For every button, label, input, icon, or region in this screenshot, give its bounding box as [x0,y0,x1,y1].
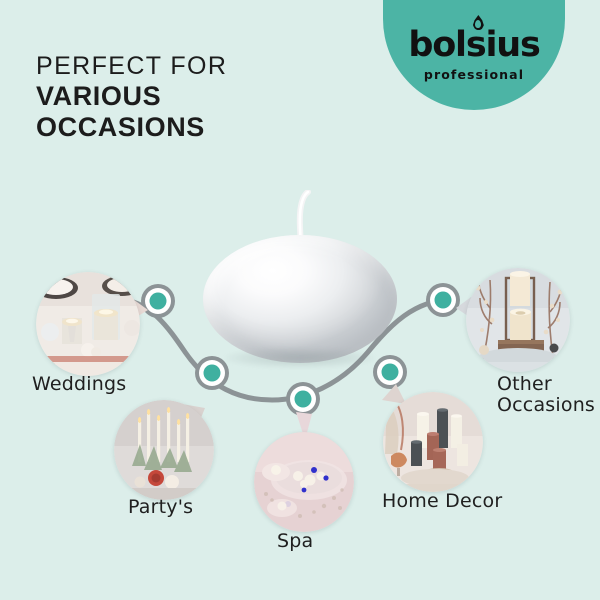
product-image-floating-candle [203,190,397,375]
lantern-pillar-candle-branches-photo [466,268,570,372]
party-taper-candles-flowers-photo [114,400,214,500]
home-decor-pillar-candles-photo [383,392,483,492]
brand-wordmark: bolsius [408,28,539,63]
occasion-bubble-other[interactable] [466,268,570,372]
occasion-bubble-spa[interactable] [254,432,354,532]
wedding-table-floating-candles-photo [36,272,140,376]
brand-badge-inner: bolsius professional [383,0,565,110]
headline-line-3: OCCASIONS [36,112,227,143]
connector-node-5 [426,283,460,317]
occasion-label-other: Other Occasions [497,374,595,417]
marketing-poster: bolsius professional PERFECT FOR VARIOUS… [0,0,600,600]
occasion-label-homedecor: Home Decor [382,491,502,512]
headline-line-2: VARIOUS [36,81,227,112]
candle-body [203,235,397,363]
occasion-label-spa: Spa [277,531,313,552]
occasion-bubble-partys[interactable] [114,400,214,500]
brand-badge: bolsius professional [383,0,565,110]
page-title: PERFECT FOR VARIOUS OCCASIONS [36,52,227,144]
brand-tagline: professional [424,67,524,82]
flame-dot-icon [473,15,484,30]
occasion-label-partys: Party's [128,497,193,518]
occasion-bubble-weddings[interactable] [36,272,140,376]
brand-wordmark-text: bolsius [408,25,539,65]
spa-water-bowl-floating-candles-photo [254,432,354,532]
occasion-label-weddings: Weddings [32,374,126,395]
connector-node-1 [141,284,175,318]
headline-line-1: PERFECT FOR [36,52,227,81]
occasion-bubble-homedecor[interactable] [383,392,483,492]
candle-shadow [225,348,375,368]
connector-node-3 [286,382,320,416]
